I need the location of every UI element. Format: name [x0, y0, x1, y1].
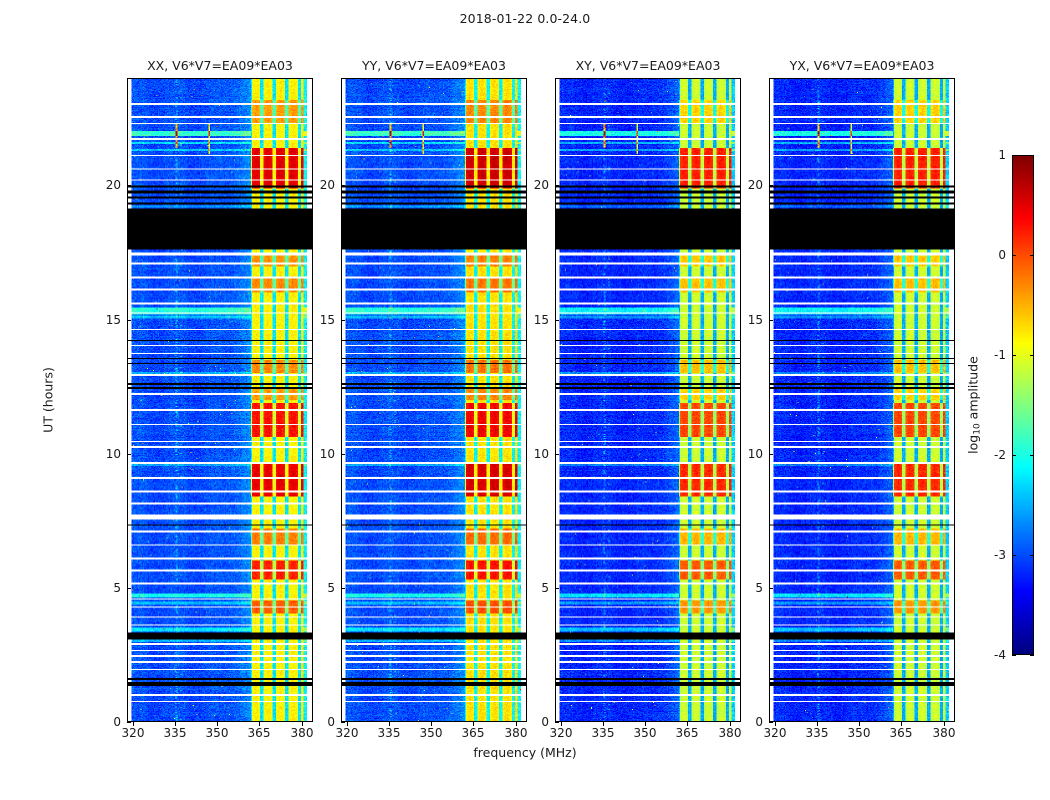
colorbar-tick-label: 0 [998, 248, 1006, 262]
xtick-label: 335 [164, 726, 187, 740]
xtick-label: 335 [806, 726, 829, 740]
ytick-label: 5 [113, 581, 121, 595]
xtick-label: 380 [933, 726, 956, 740]
xtick-labels-xx: 320335350365380 [127, 726, 313, 744]
xtick-label: 365 [462, 726, 485, 740]
ytick-label: 5 [541, 581, 549, 595]
xtick-label: 380 [291, 726, 314, 740]
ytick-mark [769, 722, 773, 723]
waterfall-panel-xx[interactable] [127, 78, 313, 722]
xtick-label: 335 [592, 726, 615, 740]
ytick-label: 0 [755, 715, 763, 729]
waterfall-panel-yy[interactable] [341, 78, 527, 722]
ytick-label: 15 [748, 313, 763, 327]
xtick-label: 350 [206, 726, 229, 740]
ytick-label: 15 [320, 313, 335, 327]
xtick-label: 350 [420, 726, 443, 740]
figure-suptitle: 2018-01-22 0.0-24.0 [0, 11, 1050, 26]
ytick-label: 0 [541, 715, 549, 729]
colorbar-tick-mark [1030, 655, 1034, 656]
xtick-label: 320 [336, 726, 359, 740]
ytick-label: 10 [748, 447, 763, 461]
panel-title-xx: XX, V6*V7=EA09*EA03 [127, 58, 313, 74]
xtick-labels-yy: 320335350365380 [341, 726, 527, 744]
ytick-mark [341, 722, 345, 723]
colorbar-tick-label: -1 [994, 348, 1006, 362]
xtick-label: 320 [122, 726, 145, 740]
x-axis-label: frequency (MHz) [0, 745, 1050, 760]
ytick-labels-yx: 05101520 [729, 78, 763, 722]
ytick-label: 15 [106, 313, 121, 327]
ytick-labels-yy: 05101520 [301, 78, 335, 722]
colorbar-tick-mark [1012, 655, 1016, 656]
colorbar-tick-label: -3 [994, 548, 1006, 562]
ytick-label: 20 [106, 178, 121, 192]
panel-title-yx: YX, V6*V7=EA09*EA03 [769, 58, 955, 74]
ytick-label: 0 [327, 715, 335, 729]
xtick-label: 350 [634, 726, 657, 740]
ytick-label: 5 [755, 581, 763, 595]
colorbar-tick-label: -4 [994, 648, 1006, 662]
xtick-label: 365 [248, 726, 271, 740]
xtick-label: 380 [505, 726, 528, 740]
ytick-label: 20 [534, 178, 549, 192]
colorbar-label-suffix: amplitude [966, 356, 981, 423]
xtick-label: 320 [764, 726, 787, 740]
colorbar-label: log10 amplitude [966, 356, 981, 454]
y-axis-label: UT (hours) [41, 367, 56, 433]
ytick-label: 10 [534, 447, 549, 461]
ytick-label: 15 [534, 313, 549, 327]
ytick-label: 10 [320, 447, 335, 461]
ytick-mark [127, 722, 131, 723]
xtick-label: 350 [848, 726, 871, 740]
xtick-label: 380 [719, 726, 742, 740]
colorbar-tick-label: 1 [998, 148, 1006, 162]
ytick-label: 20 [320, 178, 335, 192]
ytick-labels-xx: 05101520 [87, 78, 121, 722]
ytick-label: 0 [113, 715, 121, 729]
panel-title-xy: XY, V6*V7=EA09*EA03 [555, 58, 741, 74]
xtick-label: 320 [550, 726, 573, 740]
waterfall-panel-xy[interactable] [555, 78, 741, 722]
colorbar-label-sub: 10 [973, 423, 983, 434]
xtick-labels-yx: 320335350365380 [769, 726, 955, 744]
colorbar[interactable] [1012, 155, 1034, 655]
ytick-label: 10 [106, 447, 121, 461]
xtick-labels-xy: 320335350365380 [555, 726, 741, 744]
ytick-label: 20 [748, 178, 763, 192]
xtick-label: 335 [378, 726, 401, 740]
ytick-labels-xy: 05101520 [515, 78, 549, 722]
ytick-mark [555, 722, 559, 723]
ytick-label: 5 [327, 581, 335, 595]
colorbar-tick-label: -2 [994, 448, 1006, 462]
panel-title-yy: YY, V6*V7=EA09*EA03 [341, 58, 527, 74]
xtick-label: 365 [890, 726, 913, 740]
figure-canvas: 2018-01-22 0.0-24.0 XX, V6*V7=EA09*EA03 … [0, 0, 1050, 800]
colorbar-label-prefix: log [966, 435, 981, 454]
waterfall-panel-yx[interactable] [769, 78, 955, 722]
xtick-label: 365 [676, 726, 699, 740]
